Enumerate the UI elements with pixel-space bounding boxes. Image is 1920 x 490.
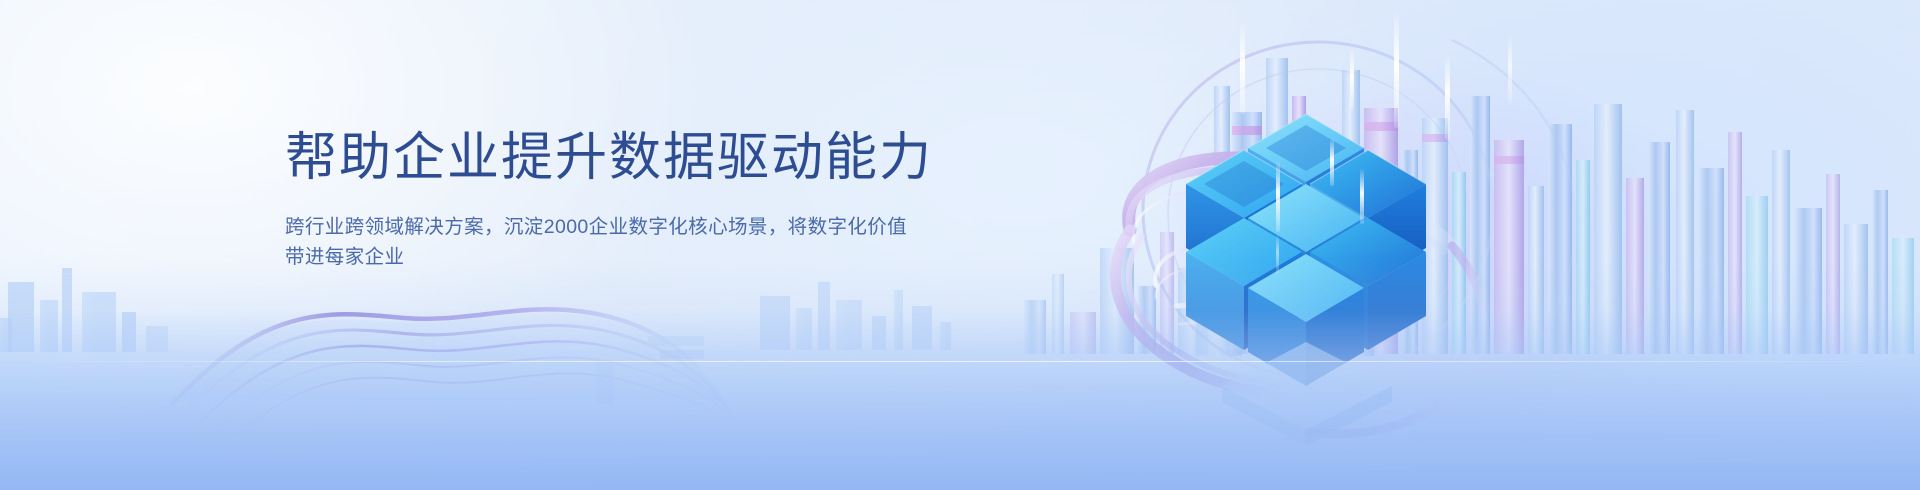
light-streak-2 <box>1350 48 1354 110</box>
page-title: 帮助企业提升数据驱动能力 <box>285 128 985 188</box>
light-streak-9 <box>1508 34 1512 104</box>
hero-subtitle-line-1: 跨行业跨领域解决方案，沉淀2000企业数字化核心场景，将数字化价值 <box>285 216 907 238</box>
light-streak-5 <box>1276 160 1280 232</box>
light-streak-1 <box>1240 22 1245 114</box>
reflective-floor <box>0 310 1920 490</box>
light-streak-4 <box>1445 54 1450 140</box>
light-streak-8 <box>1276 234 1279 274</box>
hero-subtitle: 跨行业跨领域解决方案，沉淀2000企业数字化核心场景，将数字化价值 带进每家企业 <box>285 212 945 272</box>
light-streak-7 <box>1360 168 1364 224</box>
hero-banner: 帮助企业提升数据驱动能力 跨行业跨领域解决方案，沉淀2000企业数字化核心场景，… <box>0 0 1920 490</box>
light-streak-3 <box>1394 10 1399 128</box>
horizon-line <box>0 361 1920 362</box>
light-streak-6 <box>1330 138 1334 186</box>
hero-subtitle-line-2: 带进每家企业 <box>285 246 404 268</box>
hero-copy-block: 帮助企业提升数据驱动能力 跨行业跨领域解决方案，沉淀2000企业数字化核心场景，… <box>285 128 985 272</box>
